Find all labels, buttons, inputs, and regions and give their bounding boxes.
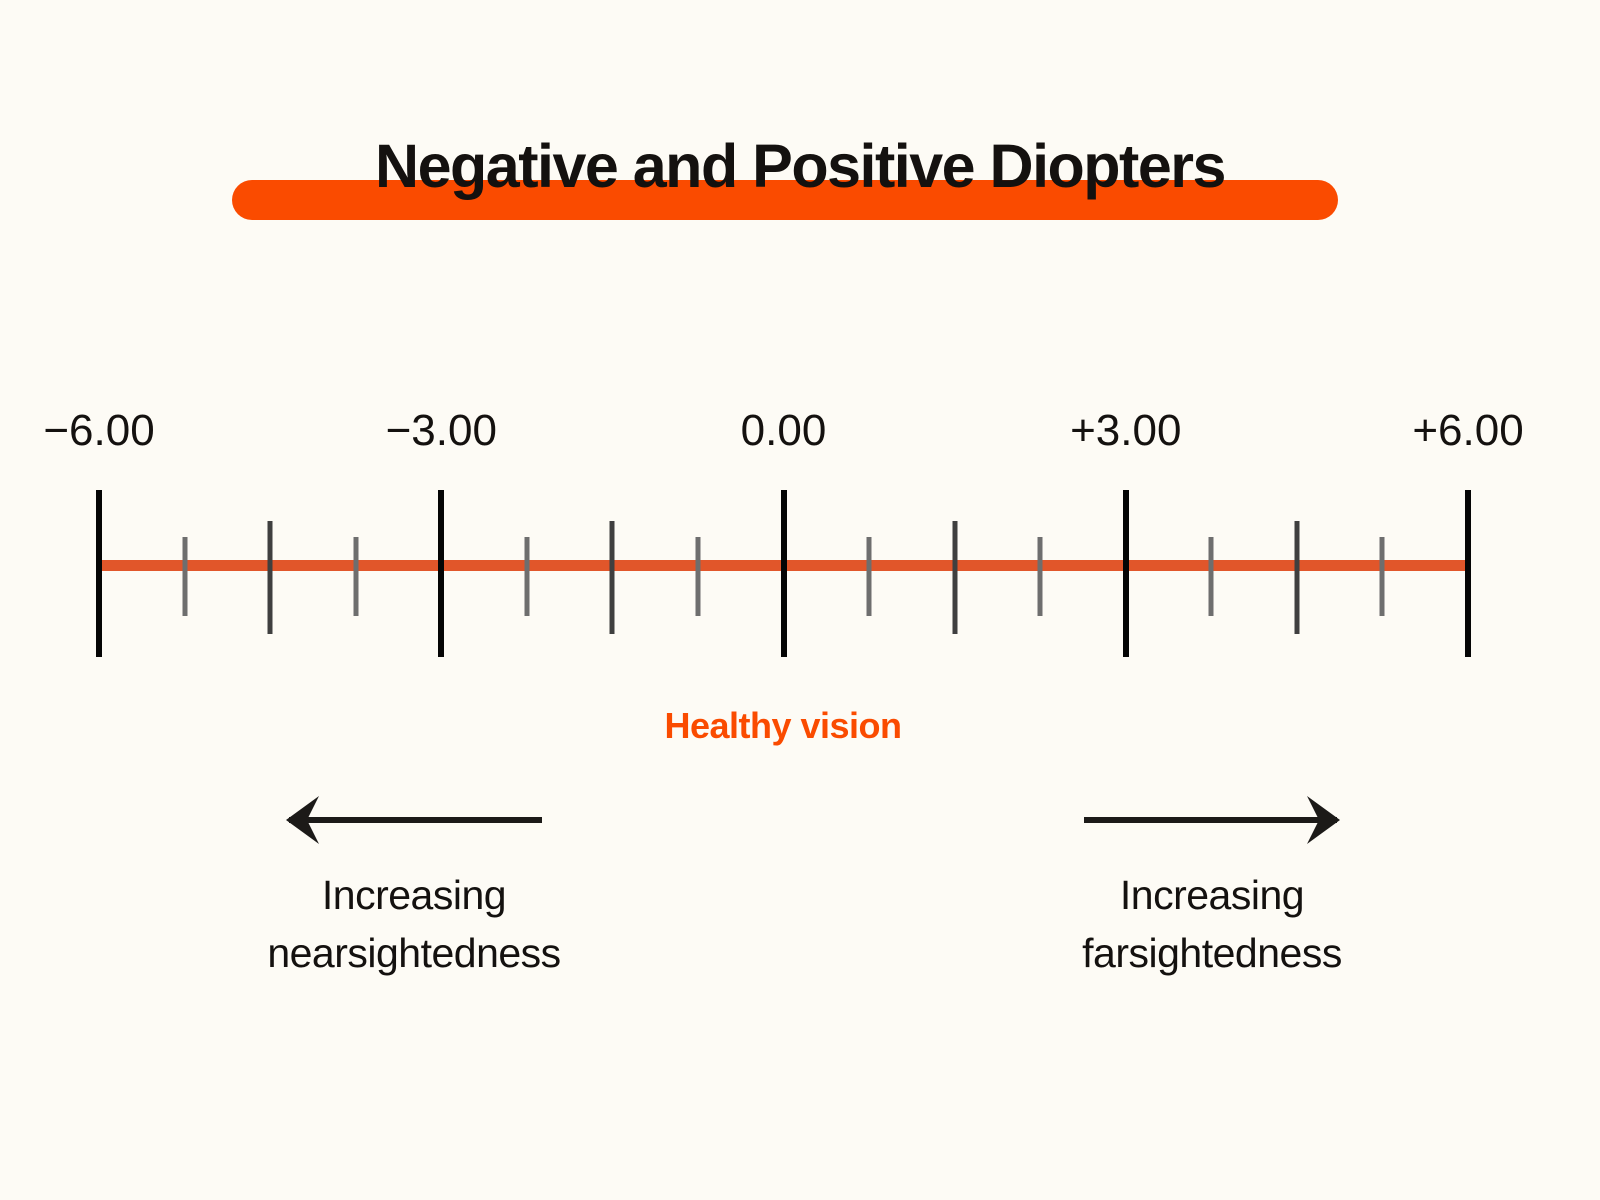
tick-minor-light — [867, 537, 872, 616]
axis-label: 0.00 — [741, 405, 827, 457]
diopter-scale: −6.00−3.000.00+3.00+6.00 — [0, 0, 1600, 1200]
tick-minor-light — [1209, 537, 1214, 616]
arrow-left-icon — [164, 790, 664, 850]
caption-nearsighted-line1: Increasing — [164, 866, 664, 924]
direction-group-nearsighted: Increasing nearsightedness — [164, 790, 664, 982]
tick-minor-light — [524, 537, 529, 616]
caption-farsighted: Increasing farsightedness — [962, 866, 1462, 982]
arrow-left-wrap — [164, 790, 664, 850]
axis-label: +6.00 — [1412, 405, 1523, 457]
axis-label: +3.00 — [1070, 405, 1181, 457]
tick-minor-light — [1038, 537, 1043, 616]
tick-major — [96, 490, 102, 657]
tick-major — [1123, 490, 1129, 657]
caption-nearsighted: Increasing nearsightedness — [164, 866, 664, 982]
axis-label: −3.00 — [386, 405, 497, 457]
caption-farsighted-line2: farsightedness — [962, 924, 1462, 982]
tick-major — [1465, 490, 1471, 657]
diagram-canvas: Negative and Positive Diopters −6.00−3.0… — [0, 0, 1600, 1200]
caption-farsighted-line1: Increasing — [962, 866, 1462, 924]
tick-major — [781, 490, 787, 657]
tick-minor-dark — [1294, 521, 1299, 634]
tick-minor-light — [695, 537, 700, 616]
tick-minor-light — [353, 537, 358, 616]
direction-group-farsighted: Increasing farsightedness — [962, 790, 1462, 982]
caption-nearsighted-line2: nearsightedness — [164, 924, 664, 982]
axis-label: −6.00 — [43, 405, 154, 457]
tick-minor-dark — [952, 521, 957, 634]
arrow-right-wrap — [962, 790, 1462, 850]
tick-minor-dark — [610, 521, 615, 634]
tick-major — [438, 490, 444, 657]
tick-minor-light — [1380, 537, 1385, 616]
healthy-vision-label: Healthy vision — [0, 704, 1600, 748]
healthy-vision-text: Healthy vision — [664, 705, 901, 746]
tick-minor-dark — [268, 521, 273, 634]
arrow-right-icon — [962, 790, 1462, 850]
tick-minor-light — [182, 537, 187, 616]
